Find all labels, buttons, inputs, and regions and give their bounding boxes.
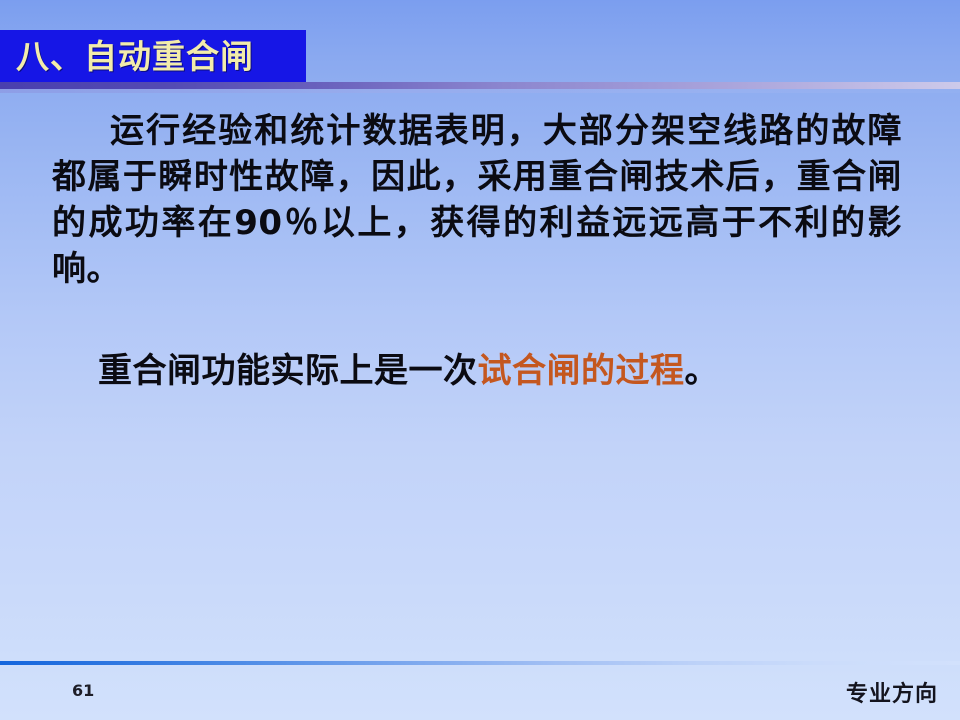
footer-label: 专业方向 — [846, 676, 938, 708]
slide-canvas: 八、自动重合闸 运行经验和统计数据表明，大部分架空线路的故障都属于瞬时性故障，因… — [0, 0, 960, 720]
footer-page-number: 61 — [72, 681, 94, 700]
title-divider-glow — [0, 89, 960, 93]
title-banner: 八、自动重合闸 — [0, 30, 306, 82]
title-divider — [0, 82, 960, 89]
body-paragraph-1: 运行经验和统计数据表明，大部分架空线路的故障都属于瞬时性故障，因此，采用重合闸技… — [52, 108, 902, 292]
body-paragraph-2-highlight: 试合闸的过程 — [478, 351, 685, 391]
body-paragraph-2-lead: 重合闸功能实际上是一次 — [98, 351, 478, 391]
body-paragraph-2: 重合闸功能实际上是一次试合闸的过程。 — [98, 348, 902, 394]
slide-body: 运行经验和统计数据表明，大部分架空线路的故障都属于瞬时性故障，因此，采用重合闸技… — [0, 108, 960, 394]
page-title: 八、自动重合闸 — [16, 40, 254, 73]
body-paragraph-2-tail: 。 — [685, 351, 720, 391]
footer-divider — [0, 661, 960, 665]
